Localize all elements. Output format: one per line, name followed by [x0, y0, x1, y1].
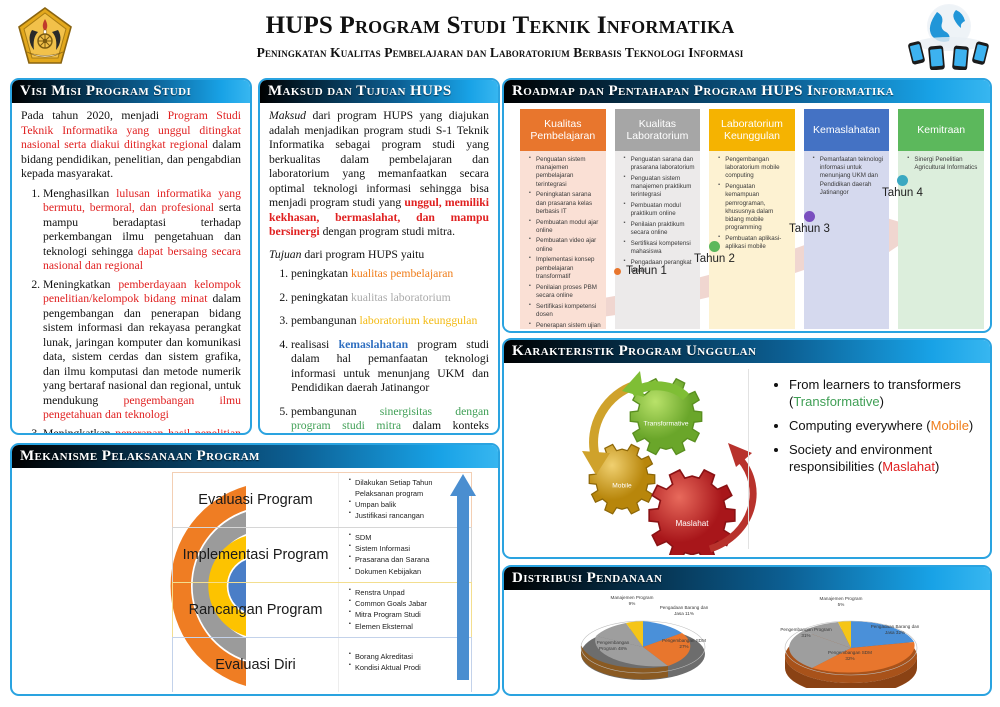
list-item: peningkatan kualitas laboratorium — [291, 291, 489, 306]
panel-title-pendanaan: Distribusi Pendanaan — [512, 570, 662, 587]
panel-roadmap: Roadmap dan Pentahapan Program HUPS Info… — [502, 78, 992, 333]
list-item: Penguatan sistem manajemen praktikum ter… — [626, 175, 697, 200]
roadmap-marker-tahun-4: Tahun 4 — [882, 175, 923, 199]
mekanisme-table: Evaluasi Program Dilakukan Setiap Tahun … — [172, 472, 472, 692]
gear-label-maslahat: Maslahat — [675, 519, 709, 528]
visi-misi-list: Menghasilkan lulusan informatika yang be… — [21, 187, 241, 436]
marker-label: Tahun 1 — [626, 265, 667, 277]
list-item: Sertifikasi kompetensi mahasiswa — [626, 240, 697, 256]
marker-label: Tahun 3 — [789, 223, 830, 235]
panel-maksud-tujuan: Maksud dan Tujuan HUPS Maksud dari progr… — [258, 78, 500, 435]
table-row: Rancangan Program Renstra Unpad Common G… — [172, 582, 472, 637]
panel-header-mekanisme: Mekanisme Pelaksanaan Program — [12, 445, 498, 468]
roadmap-column-kualitas-pembelajaran: Kualitas Pembelajaran Penguatan sistem m… — [520, 109, 606, 329]
marker-dot-icon — [804, 211, 815, 222]
list-item: realisasi kemaslahatan program studi dal… — [291, 338, 489, 396]
pie-chart-left: Pengadaan Barang dan Jasa 11% Pengembang… — [548, 592, 738, 688]
pendanaan-charts: Pengadaan Barang dan Jasa 11% Pengembang… — [504, 590, 990, 690]
panel-mekanisme: Mekanisme Pelaksanaan Program Evaluasi P… — [10, 443, 500, 696]
list-item: Meningkatkan pemberdayaan kelompok penel… — [43, 278, 241, 423]
table-row: Evaluasi Program Dilakukan Setiap Tahun … — [172, 472, 472, 527]
list-item: Pembuatan modul ajar online — [531, 219, 602, 235]
roadmap-diagram: Kualitas Pembelajaran Penguatan sistem m… — [504, 103, 990, 329]
list-item: Computing everywhere (Mobile) — [789, 418, 984, 435]
list-item: Pembuatan video ajar online — [531, 237, 602, 253]
column-heading: Kemitraan — [898, 109, 984, 151]
marker-dot-icon — [709, 241, 720, 252]
pie-slice-label: Manajemen Program 5% — [818, 596, 864, 607]
column-body: Pemanfaatan teknologi informasi untuk me… — [804, 151, 890, 329]
poster-header: HUPS Program Studi Teknik Informatika Pe… — [0, 0, 1000, 74]
pie-slice-label: Pengembangan Program 48% — [588, 640, 638, 651]
column-heading: Kualitas Laboratorium — [615, 109, 701, 151]
column-body: Penguatan sistem manajemen pembelajaran … — [520, 151, 606, 329]
list-item: Pemanfaatan teknologi informasi untuk me… — [815, 156, 886, 197]
page-title: HUPS Program Studi Teknik Informatika — [150, 13, 850, 39]
list-item: Pengembangan laboratorium mobile computi… — [720, 156, 791, 181]
panel-header-visi: Visi Misi Program Studi — [12, 80, 250, 103]
visi-intro: Pada tahun 2020, menjadi Program Studi T… — [21, 109, 241, 182]
tujuan-intro: Tujuan dari program HUPS yaitu — [269, 248, 489, 263]
list-item: Pembuatan modul praktikum online — [626, 202, 697, 218]
list-item: Penerapan sistem ujian online — [531, 322, 602, 329]
row-label: Evaluasi Program — [173, 473, 338, 527]
gear-label-mobile: Mobile — [612, 482, 632, 489]
list-item: Sertifikasi kompetensi dosen — [531, 303, 602, 319]
panel-title-visi: Visi Misi Program Studi — [20, 83, 191, 100]
gears-diagram: Transformative Mobile Maslahat — [504, 363, 769, 555]
row-label: Implementasi Program — [173, 528, 338, 582]
list-item: Penguatan sistem manajemen pembelajaran … — [531, 156, 602, 189]
column-body: Pengembangan laboratorium mobile computi… — [709, 151, 795, 329]
pie-slice-label: Pengadaan Barang dan Jasa 11% — [656, 605, 712, 616]
karakteristik-points: From learners to transformers (Transform… — [769, 363, 990, 555]
panel-header-pendanaan: Distribusi Pendanaan — [504, 567, 990, 590]
page-subtitle: Peningkatan Kualitas Pembelajaran dan La… — [150, 45, 850, 61]
list-item: peningkatan kualitas pembelajaran — [291, 267, 489, 282]
marker-label: Tahun 4 — [882, 187, 923, 199]
roadmap-column-kualitas-laboratorium: Kualitas Laboratorium Penguatan sarana d… — [615, 109, 701, 329]
upward-arrow-icon — [450, 474, 476, 680]
column-heading: Kemaslahatan — [804, 109, 890, 151]
list-item: Penilaian praktikum secara online — [626, 221, 697, 237]
table-row: Evaluasi Diri Borang Akreditasi Kondisi … — [172, 637, 472, 692]
mekanisme-diagram: Evaluasi Program Dilakukan Setiap Tahun … — [12, 468, 498, 692]
roadmap-marker-tahun-1: Tahun 1 — [614, 265, 667, 277]
panel-header-roadmap: Roadmap dan Pentahapan Program HUPS Info… — [504, 80, 990, 103]
marker-label: Tahun 2 — [694, 253, 735, 265]
roadmap-columns: Kualitas Pembelajaran Penguatan sistem m… — [520, 109, 984, 329]
marker-dot-icon — [614, 268, 621, 275]
list-item: Meningkatkan penerapan hasil penelitian … — [43, 427, 241, 436]
pie-slice-label: Pengembangan SDM 27% — [660, 638, 708, 649]
roadmap-marker-tahun-2: Tahun 2 — [694, 241, 735, 265]
column-heading: Kualitas Pembelajaran — [520, 109, 606, 151]
panel-title-karakteristik: Karakteristik Program Unggulan — [512, 343, 756, 360]
maksud-paragraph: Maksud dari program HUPS yang diajukan a… — [269, 109, 489, 240]
table-row: Implementasi Program SDM Sistem Informas… — [172, 527, 472, 582]
pie-chart-right: Pengadaan Barang dan Jasa 32% Pengembang… — [756, 592, 946, 688]
row-label: Evaluasi Diri — [173, 638, 338, 692]
list-item: pembangunan sinergisitas dengan program … — [291, 405, 489, 436]
list-item: Penilaian proses PBM secara online — [531, 284, 602, 300]
pie-slice-label: Pengembangan SDM 32% — [824, 650, 876, 661]
column-heading: Laboratorium Keunggulan — [709, 109, 795, 151]
globe-mobile-devices-graphic — [906, 2, 992, 70]
roadmap-column-laboratorium-keunggulan: Laboratorium Keunggulan Pengembangan lab… — [709, 109, 795, 329]
list-item: Society and environment responsibilities… — [789, 442, 984, 476]
list-item: Implementasi konsep pembelajaran transfo… — [531, 256, 602, 281]
gear-label-transformative: Transformative — [643, 421, 688, 428]
pie-slice-label: Pengadaan Barang dan Jasa 32% — [868, 624, 922, 635]
panel-body-maksud: Maksud dari program HUPS yang diajukan a… — [260, 103, 498, 435]
karakteristik-content: Transformative Mobile Maslahat — [504, 363, 990, 555]
list-item: Menghasilkan lulusan informatika yang be… — [43, 187, 241, 274]
marker-dot-icon — [897, 175, 908, 186]
panel-title-maksud: Maksud dan Tujuan HUPS — [268, 83, 452, 100]
unpad-logo — [16, 6, 74, 68]
list-item: pembangunan laboratorium keunggulan — [291, 314, 489, 329]
panel-header-karakteristik: Karakteristik Program Unggulan — [504, 340, 990, 363]
pie-slice-label: Manajemen Program 9% — [610, 595, 654, 606]
roadmap-marker-tahun-3: Tahun 3 — [789, 211, 830, 235]
divider — [748, 369, 749, 549]
row-label: Rancangan Program — [173, 583, 338, 637]
pie-slice-label: Pengembangan Program 31% — [778, 627, 834, 638]
column-body: Penguatan sarana dan prasarana laborator… — [615, 151, 701, 329]
list-item: From learners to transformers (Transform… — [789, 377, 984, 411]
list-item: Penguatan sarana dan prasarana laborator… — [626, 156, 697, 172]
list-item: Peningkatan sarana dan prasarana kelas b… — [531, 191, 602, 216]
roadmap-column-kemitraan: Kemitraan Sinergi Penelitian Agricultura… — [898, 109, 984, 329]
tujuan-list: peningkatan kualitas pembelajaran pening… — [269, 267, 489, 435]
panel-title-roadmap: Roadmap dan Pentahapan Program HUPS Info… — [512, 83, 894, 100]
panel-header-maksud: Maksud dan Tujuan HUPS — [260, 80, 498, 103]
panel-karakteristik: Karakteristik Program Unggulan — [502, 338, 992, 559]
panel-visi-misi: Visi Misi Program Studi Pada tahun 2020,… — [10, 78, 252, 435]
panel-title-mekanisme: Mekanisme Pelaksanaan Program — [20, 448, 260, 465]
panel-distribusi-pendanaan: Distribusi Pendanaan Pengadaan Barang da… — [502, 565, 992, 696]
panel-body-visi: Pada tahun 2020, menjadi Program Studi T… — [12, 103, 250, 435]
list-item: Sinergi Penelitian Agricultural Informat… — [909, 156, 980, 172]
list-item: Penguatan kemampuan pemrograman, khususn… — [720, 183, 791, 232]
